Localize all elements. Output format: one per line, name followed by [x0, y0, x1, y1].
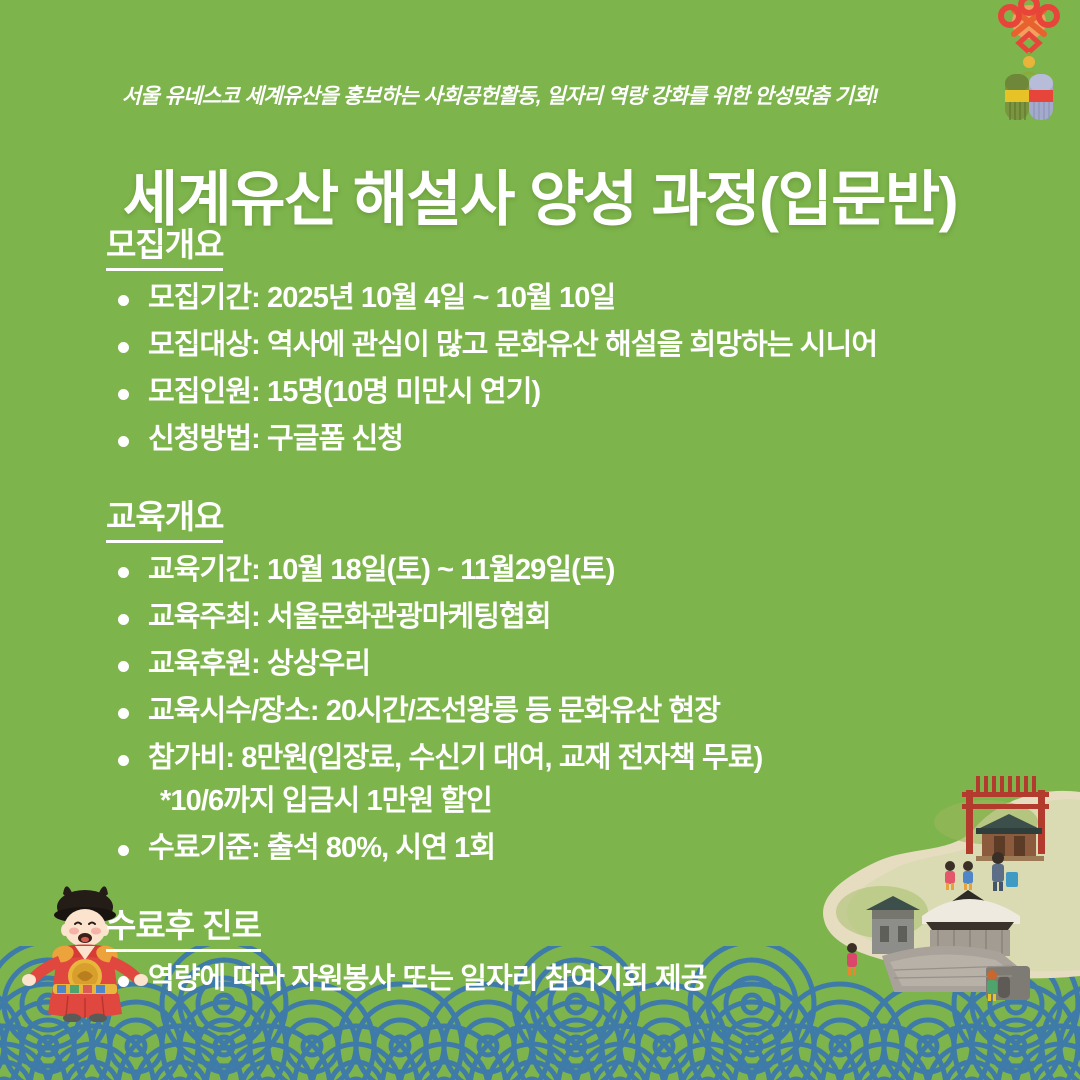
poster-canvas: 서울 유네스코 세계유산을 홍보하는 사회공헌활동, 일자리 역량 강화를 위한…	[0, 0, 1080, 1080]
section-heading-education: 교육개요	[106, 490, 223, 543]
section-heading-career: 수료후 진로	[106, 899, 261, 952]
list-item: 교육시수/장소: 20시간/조선왕릉 등 문화유산 현장	[106, 697, 1040, 726]
section-career-path: 수료후 진로 역량에 따라 자원봉사 또는 일자리 참여기회 제공	[106, 899, 1040, 994]
section-recruitment-overview: 모집개요 모집기간: 2025년 10월 4일 ~ 10월 10일 모집대상: …	[106, 218, 1040, 454]
fee-discount-note: *10/6까지 입금시 1만원 할인	[148, 787, 1040, 816]
list-item: 신청방법: 구글폼 신청	[106, 425, 1040, 454]
poster-subtitle: 서울 유네스코 세계유산을 홍보하는 사회공헌활동, 일자리 역량 강화를 위한…	[0, 80, 1000, 110]
education-list: 교육기간: 10월 18일(토) ~ 11월29일(토) 교육주최: 서울문화관…	[106, 556, 1040, 863]
list-item: 수료기준: 출석 80%, 시연 1회	[106, 834, 1040, 863]
list-item: 교육주최: 서울문화관광마케팅협회	[106, 603, 1040, 632]
list-item: 모집대상: 역사에 관심이 많고 문화유산 해설을 희망하는 시니어	[106, 331, 1040, 360]
list-item: 모집기간: 2025년 10월 4일 ~ 10월 10일	[106, 284, 1040, 313]
list-item: 교육후원: 상상우리	[106, 650, 1040, 679]
sections-container: 모집개요 모집기간: 2025년 10월 4일 ~ 10월 10일 모집대상: …	[106, 218, 1040, 1028]
career-list: 역량에 따라 자원봉사 또는 일자리 참여기회 제공	[106, 965, 1040, 994]
list-item: 모집인원: 15명(10명 미만시 연기)	[106, 378, 1040, 407]
fee-text: 참가비: 8만원(입장료, 수신기 대여, 교재 전자책 무료)	[148, 742, 762, 774]
list-item: 역량에 따라 자원봉사 또는 일자리 참여기회 제공	[106, 965, 1040, 994]
list-item-fee: 참가비: 8만원(입장료, 수신기 대여, 교재 전자책 무료) *10/6까지…	[106, 744, 1040, 816]
list-item: 교육기간: 10월 18일(토) ~ 11월29일(토)	[106, 556, 1040, 585]
section-heading-recruitment: 모집개요	[106, 218, 223, 271]
section-education-overview: 교육개요 교육기간: 10월 18일(토) ~ 11월29일(토) 교육주최: …	[106, 490, 1040, 863]
recruitment-list: 모집기간: 2025년 10월 4일 ~ 10월 10일 모집대상: 역사에 관…	[106, 284, 1040, 454]
